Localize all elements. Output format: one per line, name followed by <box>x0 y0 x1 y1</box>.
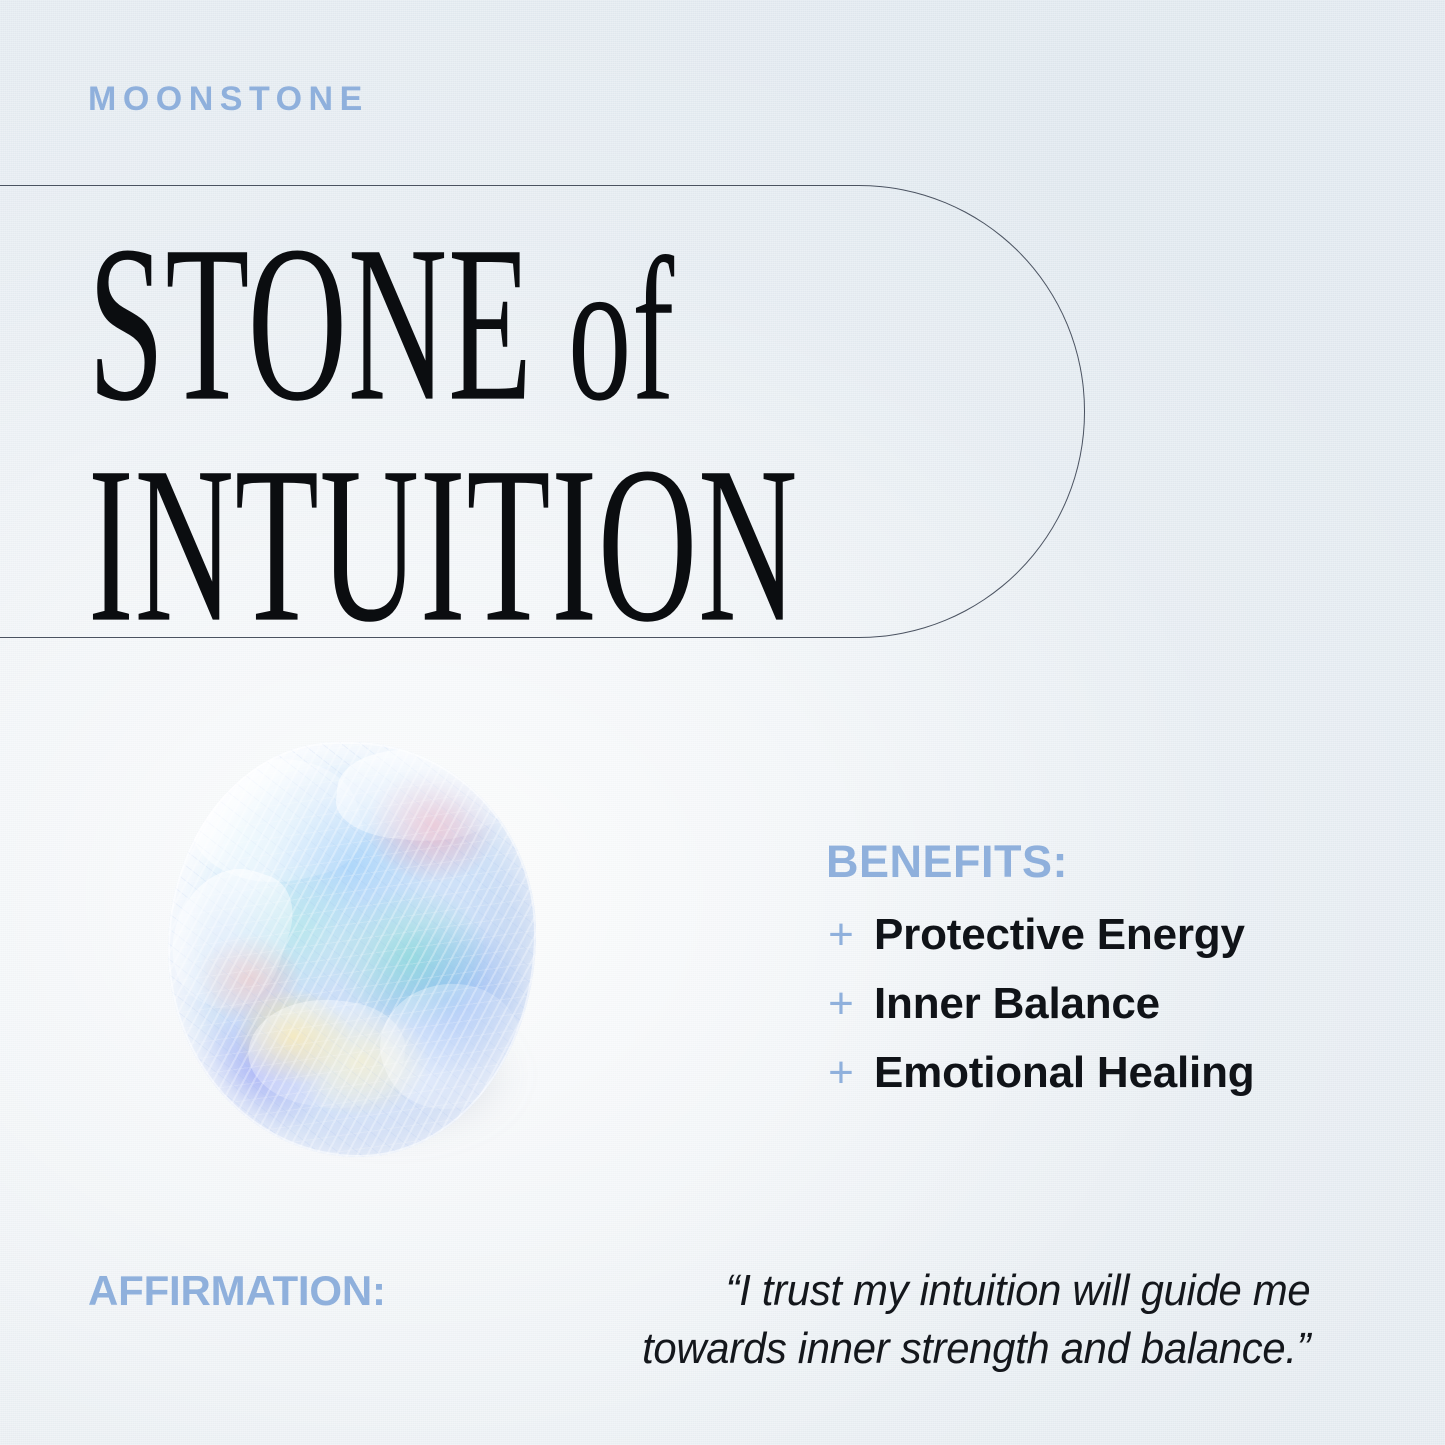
benefit-item: + Inner Balance <box>826 976 1366 1031</box>
plus-icon: + <box>826 913 856 957</box>
affirmation-quote: “I trust my intuition will guide me towa… <box>400 1262 1310 1378</box>
page-title: STONE of INTUITION <box>88 214 888 657</box>
benefit-item: + Protective Energy <box>826 907 1366 962</box>
page-title-connector: of <box>568 217 675 444</box>
benefit-label: Emotional Healing <box>874 1045 1254 1100</box>
moonstone-edge-highlight <box>168 742 536 1157</box>
moonstone-info-card: MOONSTONE STONE of INTUITION BENEFITS: +… <box>0 0 1445 1445</box>
page-title-line2: INTUITION <box>88 435 888 656</box>
benefits-heading: BENEFITS: <box>826 838 1366 885</box>
page-eyebrow-label: MOONSTONE <box>88 82 369 116</box>
affirmation-quote-line2: towards inner strength and balance.” <box>400 1320 1310 1378</box>
affirmation-label: AFFIRMATION: <box>88 1267 386 1315</box>
benefit-item: + Emotional Healing <box>826 1045 1366 1100</box>
page-title-line1-main: STONE <box>88 201 533 448</box>
benefits-section: BENEFITS: + Protective Energy + Inner Ba… <box>826 838 1366 1114</box>
affirmation-quote-line1: “I trust my intuition will guide me <box>725 1266 1310 1315</box>
plus-icon: + <box>826 982 856 1026</box>
benefit-label: Inner Balance <box>874 976 1160 1031</box>
moonstone-image <box>168 742 536 1157</box>
moonstone-crystal-icon <box>168 742 536 1157</box>
plus-icon: + <box>826 1051 856 1095</box>
affirmation-section: AFFIRMATION: “I trust my intuition will … <box>88 1262 1358 1378</box>
benefit-label: Protective Energy <box>874 907 1245 962</box>
